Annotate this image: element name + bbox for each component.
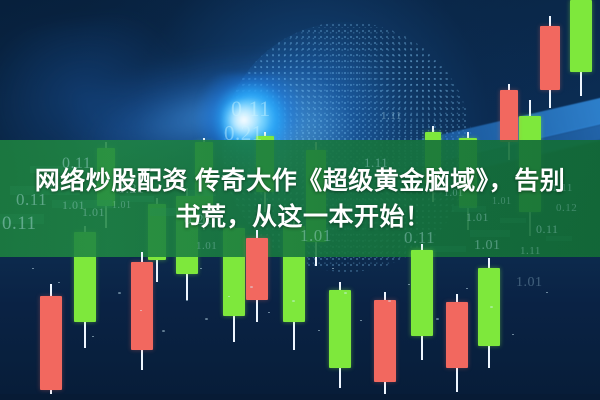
- particle-speck: [490, 306, 493, 308]
- particle-speck: [388, 300, 391, 302]
- particle-speck: [250, 286, 253, 288]
- particle-speck: [318, 330, 320, 331]
- bottom-edge-line: [0, 394, 600, 400]
- headline-line-1: 网络炒股配资 传奇大作《超级黄金脑域》，告别: [35, 165, 565, 197]
- particle-speck: [118, 292, 121, 294]
- particle-speck: [140, 310, 142, 311]
- particle-speck: [292, 300, 295, 302]
- banner-image: 0.110.211.111.110.111.010.111.010.110.21…: [0, 0, 600, 400]
- particle-speck: [228, 296, 230, 297]
- particle-speck: [162, 330, 165, 332]
- headline-line-2: 书荒，从这一本开始！: [169, 201, 430, 233]
- particle-speck: [200, 268, 202, 269]
- particle-speck: [268, 312, 270, 313]
- particle-speck: [466, 288, 468, 289]
- particle-speck: [436, 318, 439, 320]
- particle-speck: [360, 320, 362, 321]
- particle-speck: [546, 292, 548, 293]
- particle-speck: [186, 300, 188, 301]
- particle-speck: [205, 318, 208, 320]
- headline-block: 网络炒股配资 传奇大作《超级黄金脑域》，告别 书荒，从这一本开始！: [0, 140, 600, 257]
- particle-speck: [332, 268, 334, 269]
- particle-speck: [92, 336, 94, 337]
- particle-speck: [408, 284, 410, 285]
- particle-speck: [58, 282, 60, 283]
- particle-speck: [32, 268, 34, 269]
- particle-speck: [512, 334, 514, 335]
- particle-speck: [344, 292, 347, 294]
